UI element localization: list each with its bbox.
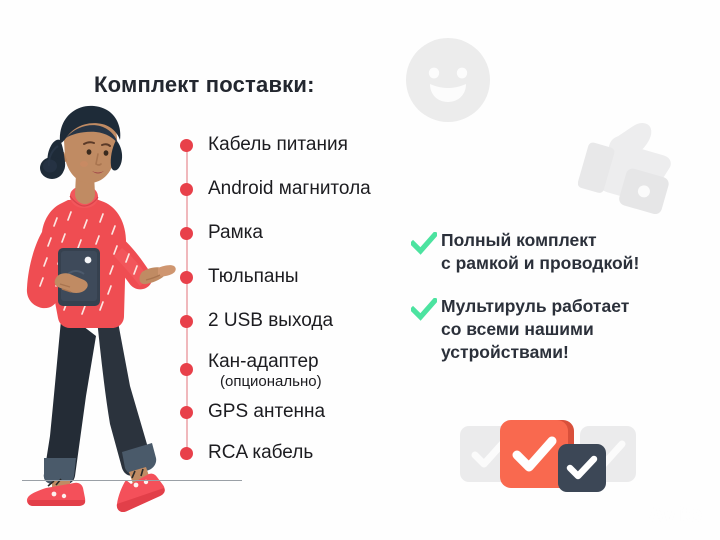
bullet-dot-icon: [180, 406, 193, 419]
bullet-dot-icon: [180, 447, 193, 460]
avito-watermark: Avito: [622, 501, 702, 528]
bullet-dot-icon: [180, 271, 193, 284]
claim-line: с рамкой и проводкой!: [441, 252, 639, 275]
avito-watermark-text: Avito: [648, 501, 702, 528]
bullet-dot-icon: [180, 363, 193, 376]
claim-line: Мультируль работает: [441, 295, 629, 318]
list-item-label: Кабель питания: [208, 132, 348, 157]
list-item-label: Тюльпаны: [208, 264, 299, 289]
bullet-dot-icon: [180, 315, 193, 328]
checkbox-cluster: [458, 408, 638, 492]
bullet-dot-icon: [180, 183, 193, 196]
list-item-label: Android магнитола: [208, 176, 371, 201]
list-item-label: RCA кабель: [208, 440, 313, 465]
claim-line: со всеми нашими: [441, 318, 629, 341]
smiley-face-icon: [404, 36, 492, 124]
green-check-icon: [411, 232, 437, 256]
woman-pointing-illustration: [0, 96, 200, 516]
ground-line: [22, 480, 242, 481]
page-title: Комплект поставки:: [94, 72, 315, 98]
bullet-dot-icon: [180, 139, 193, 152]
claim-line: устройствами!: [441, 341, 629, 364]
green-check-icon: [411, 298, 437, 322]
claim-text: Мультируль работает со всеми нашими устр…: [441, 295, 629, 364]
list-item-label: GPS антенна: [208, 399, 325, 424]
claim-text: Полный комплект с рамкой и проводкой!: [441, 229, 639, 275]
list-item-label: Рамка: [208, 220, 263, 245]
thumbs-up-icon: [578, 112, 686, 216]
avito-logo-icon: [622, 505, 644, 525]
list-item-label: 2 USB выхода: [208, 308, 333, 333]
list-item-sublabel: (опционально): [220, 372, 322, 392]
poster-canvas: Комплект поставки: Кабель питания Androi…: [0, 0, 720, 540]
bullet-dot-icon: [180, 227, 193, 240]
checkbox-dark: [558, 444, 606, 492]
list-item-label: Кан-адаптер: [208, 349, 319, 374]
claim-line: Полный комплект: [441, 229, 639, 252]
